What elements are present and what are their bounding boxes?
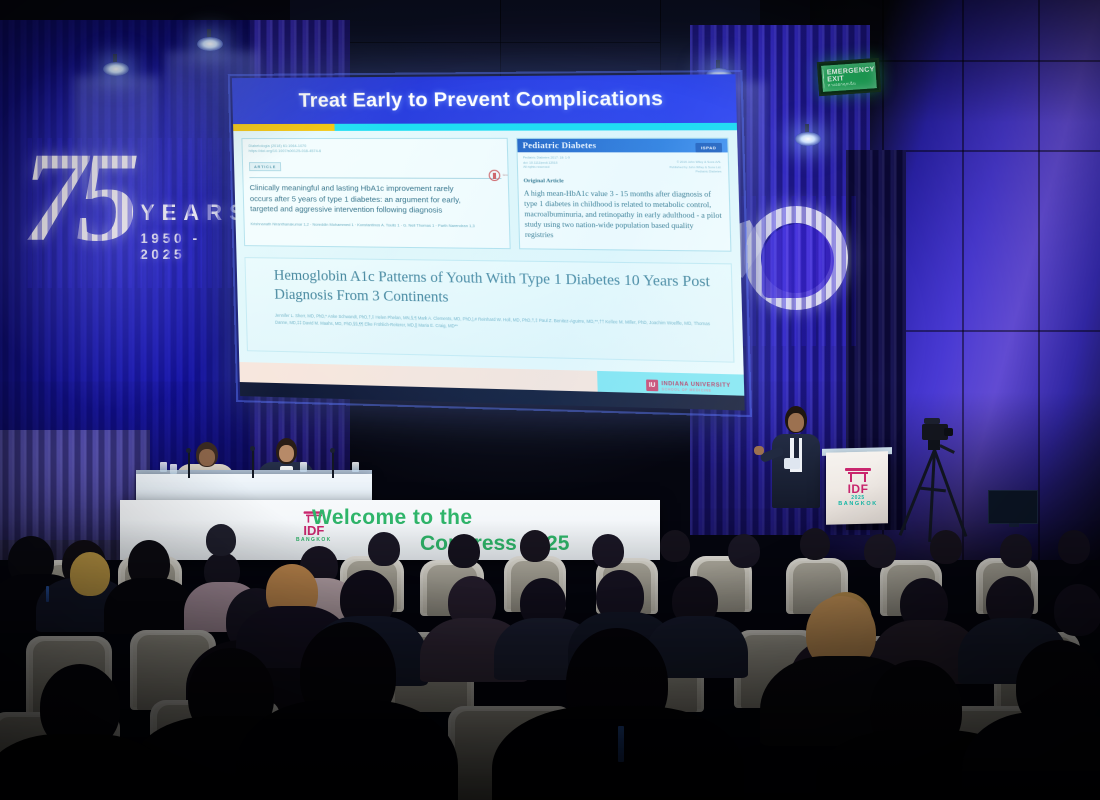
emergency-exit-sign: EMERGENCY EXIT ทางออกฉุกเฉิน: [817, 58, 881, 96]
ceiling-spotlight: [795, 132, 821, 146]
article-kicker: Original Article: [523, 178, 728, 185]
featured-paper-title: Hemoglobin A1c Patterns of Youth With Ty…: [274, 267, 721, 313]
podium-city: BANGKOK: [838, 501, 878, 507]
microphone: [188, 452, 190, 478]
slide-body: Diabetologia (2018) 61:1064-1070 https:/…: [233, 130, 744, 395]
camera-tripod-head: [928, 440, 940, 450]
divider: [249, 177, 501, 179]
water-glass: [300, 462, 307, 472]
water-glass: [170, 464, 177, 474]
crossmark-label: CrossMark: [503, 174, 511, 177]
article-type-tag: ARTICLE: [249, 162, 281, 171]
paper-title: A high mean-HbA1c value 3 - 15 months af…: [524, 188, 724, 242]
journal-copyright: © 2016 John Wiley & Sons A/S. Published …: [669, 160, 721, 174]
stage-confidence-monitor: [988, 490, 1038, 524]
camera-lens-icon: [944, 428, 953, 436]
microphone: [252, 450, 254, 478]
broadcast-camera-tripod: [906, 418, 966, 538]
projection-screen: Treat Early to Prevent Complications Dia…: [232, 74, 745, 410]
speaker-badge: [784, 458, 800, 469]
ispad-label: ISPAD: [701, 145, 717, 150]
paper-title: Clinically meaningful and lasting HbA1c …: [250, 183, 472, 217]
journal-clipping-pediatric-diabetes: Pediatric Diabetes Pediatric Diabetes 20…: [516, 138, 732, 252]
exit-sign-text: EMERGENCY EXIT ทางออกฉุกเฉิน: [827, 66, 876, 88]
journal-meta-block: Pediatric Diabetes 2017: 18: 1-9 doi: 10…: [517, 152, 728, 170]
podium-idf-logo: IDF 2025 BANGKOK: [838, 468, 878, 502]
slide-header: Treat Early to Prevent Complications: [232, 74, 737, 124]
podium-brand: IDF: [838, 483, 878, 495]
auditorium-scene: 75 YEARS 1950 - 2025 EMERGENCY EXIT ทางอ…: [0, 0, 1100, 800]
journal-clipping-diabetologia: Diabetologia (2018) 61:1064-1070 https:/…: [241, 138, 510, 249]
doi-line-2: https://doi.org/10.1007/s00125-018-4574-…: [249, 149, 501, 155]
crossmark-icon: CrossMark: [488, 170, 500, 181]
paper-authors: Krishnanath Niranthanakumar 1,2 · Noredd…: [251, 221, 503, 230]
journal-name: Pediatric Diabetes: [522, 141, 596, 150]
wall-seam: [300, 42, 660, 43]
ceiling-spotlight: [197, 37, 223, 51]
torii-gate-icon: [845, 468, 871, 482]
ceiling-spotlight: [103, 62, 129, 76]
camera-pan-handle: [939, 444, 954, 453]
journal-clipping-row: Diabetologia (2018) 61:1064-1070 https:/…: [241, 138, 731, 252]
indiana-university-logo: INDIANA UNIVERSITY SCHOOL OF MEDICINE: [646, 379, 731, 393]
slide-footer: INDIANA UNIVERSITY SCHOOL OF MEDICINE: [239, 362, 744, 396]
banner-welcome-line-1: Welcome to the: [312, 506, 472, 530]
microphone: [332, 452, 334, 478]
featured-paper-block: Hemoglobin A1c Patterns of Youth With Ty…: [244, 257, 734, 363]
iu-trident-icon: [646, 379, 658, 391]
featured-paper-authors: Jennifer L. Sherr, MD, PhD,* Anke Schwan…: [275, 311, 722, 334]
banner-city: BANGKOK: [296, 537, 332, 543]
ispad-logo: ISPAD: [695, 143, 722, 152]
water-glass: [352, 462, 359, 472]
slide-title: Treat Early to Prevent Complications: [298, 87, 663, 112]
footer-peach-segment: [239, 362, 597, 392]
water-glass: [160, 462, 167, 472]
